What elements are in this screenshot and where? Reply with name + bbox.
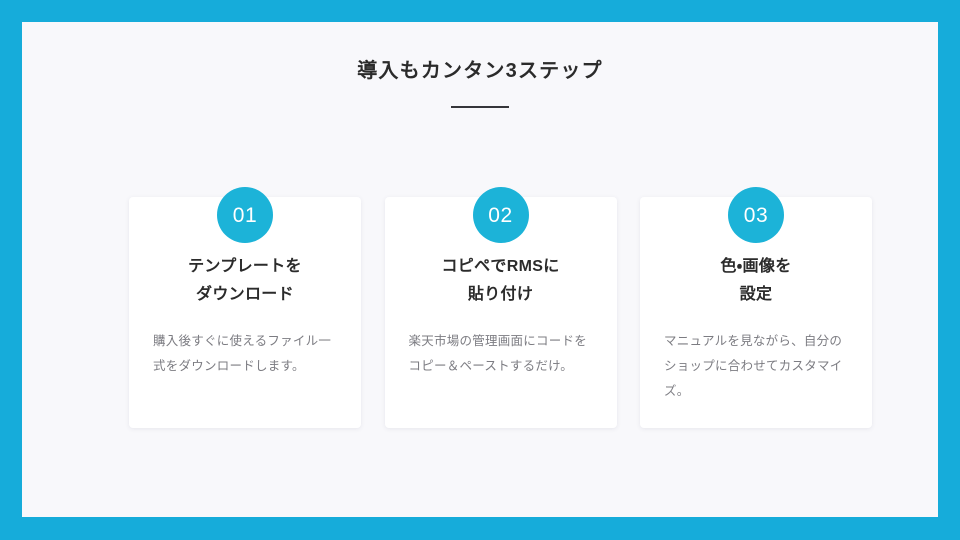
step-description: 購入後すぐに使えるファイル一式をダウンロードします。 [153, 329, 337, 379]
step-title: コピペでRMSに 貼り付け [409, 253, 593, 309]
content-panel: 導入もカンタン3ステップ 01 テンプレートを ダウンロード 購入後すぐに使える… [22, 22, 938, 517]
step-description: マニュアルを見ながら、自分のショップに合わせてカスタマイズ。 [664, 329, 848, 404]
step-number-badge: 02 [473, 187, 529, 243]
slide-root: 導入もカンタン3ステップ 01 テンプレートを ダウンロード 購入後すぐに使える… [0, 0, 960, 540]
title-divider [451, 106, 509, 108]
step-card-01: 01 テンプレートを ダウンロード 購入後すぐに使えるファイル一式をダウンロード… [129, 197, 361, 428]
step-card-02: 02 コピペでRMSに 貼り付け 楽天市場の管理画面にコードをコピー＆ペーストす… [385, 197, 617, 428]
page-title: 導入もカンタン3ステップ [22, 58, 938, 84]
steps-list: 01 テンプレートを ダウンロード 購入後すぐに使えるファイル一式をダウンロード… [129, 197, 872, 428]
step-card-03: 03 色・画像を 設定 マニュアルを見ながら、自分のショップに合わせてカスタマイ… [640, 197, 872, 428]
section-header: 導入もカンタン3ステップ [22, 58, 938, 108]
step-title: 色・画像を 設定 [664, 253, 848, 309]
step-description: 楽天市場の管理画面にコードをコピー＆ペーストするだけ。 [409, 329, 593, 379]
step-title: テンプレートを ダウンロード [153, 253, 337, 309]
step-number-badge: 01 [217, 187, 273, 243]
step-number-badge: 03 [728, 187, 784, 243]
